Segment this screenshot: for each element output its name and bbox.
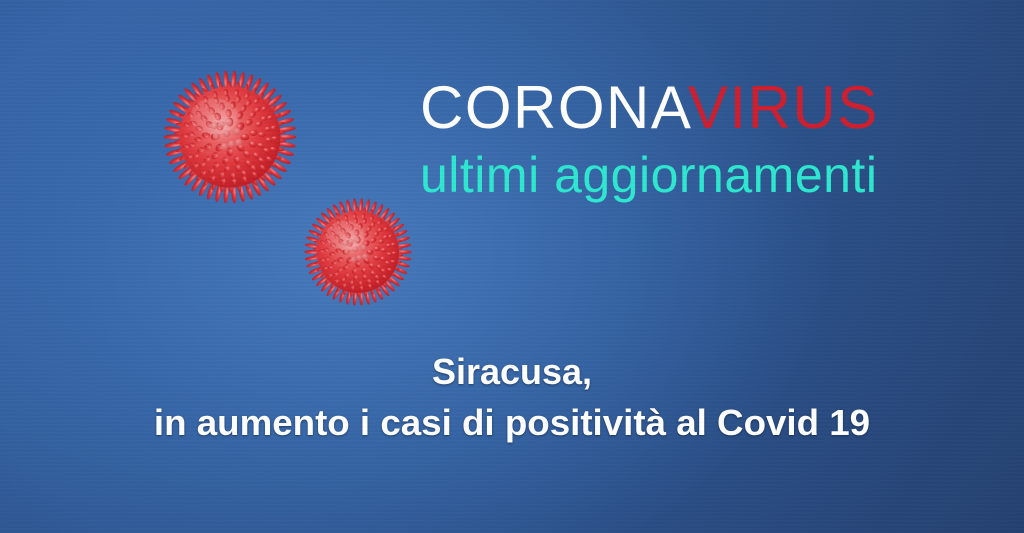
coronavirus-update-poster: CORONAVIRUS ultimi aggiornamenti Siracus… [0, 0, 1024, 533]
coronavirus-particle-small-icon [294, 188, 422, 316]
headline-line-1: Siracusa, [0, 346, 1024, 397]
headline-line-2: in aumento i casi di positività al Covid… [0, 397, 1024, 448]
brand-title-accent: VIRUS [688, 74, 879, 141]
brand-title: CORONAVIRUS [420, 78, 960, 138]
headline-block: Siracusa, in aumento i casi di positivit… [0, 346, 1024, 448]
brand-title-primary: CORONA [420, 74, 688, 141]
coronavirus-particle-large-icon [151, 58, 309, 216]
brand-subtitle: ultimi aggiornamenti [420, 150, 960, 200]
brand-title-block: CORONAVIRUS ultimi aggiornamenti [420, 78, 960, 200]
